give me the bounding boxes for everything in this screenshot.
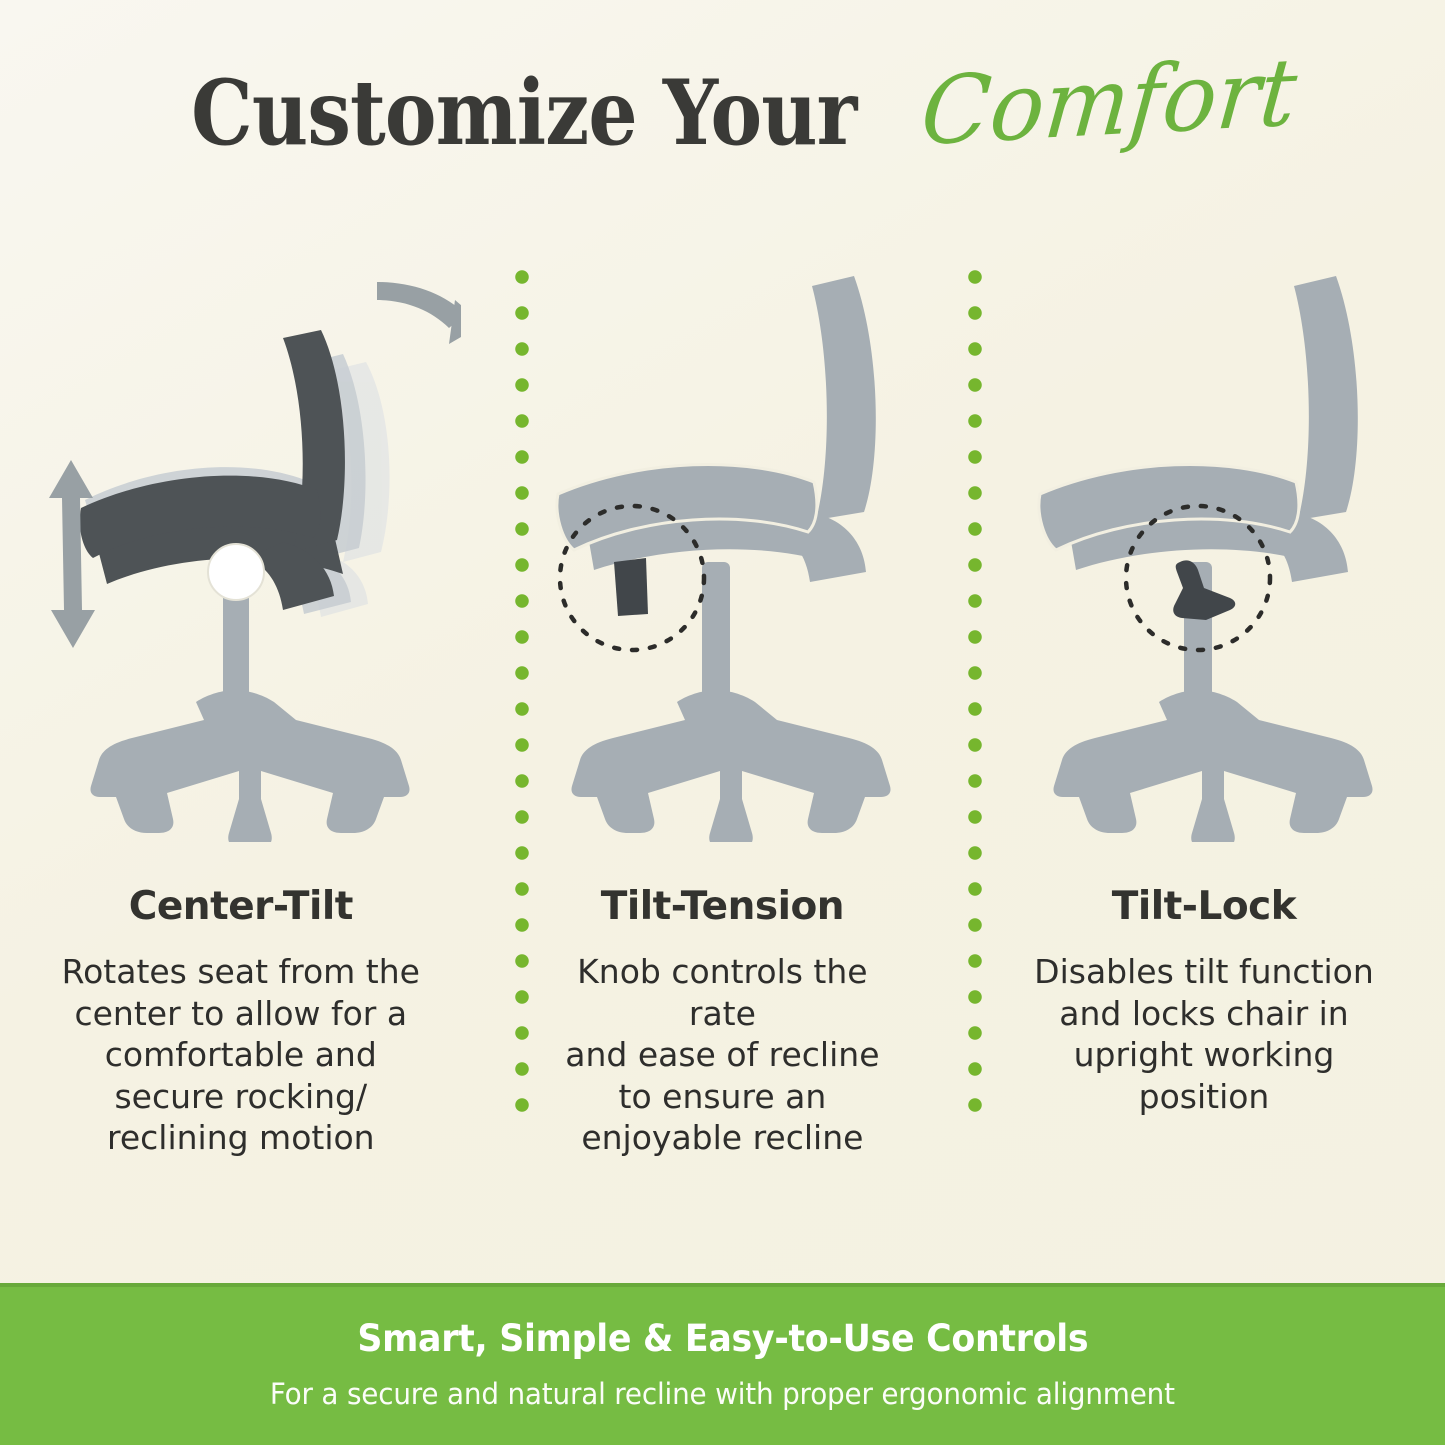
feature-description-tilt-tension: Knob controls the rate and ease of recli… [542,951,902,1159]
chair-base [572,592,891,842]
chair-backrest [1294,276,1358,520]
feature-column-tilt-lock: Tilt-Lock Disables tilt function and loc… [963,262,1445,1222]
footer-top-edge [0,1283,1445,1287]
page-title: Customize YourComfort [0,58,1445,167]
feature-description-center-tilt: Rotates seat from the center to allow fo… [61,951,421,1159]
tilt-lock-chair-diagram [984,262,1424,842]
chair-cylinder [702,562,730,714]
feature-title-tilt-tension: Tilt-Tension [601,884,844,929]
pivot-circle [208,544,264,600]
feature-columns: Center-Tilt Rotates seat from the center… [0,262,1445,1222]
tension-knob [614,558,648,616]
footer-subline: For a secure and natural recline with pr… [270,1377,1175,1411]
title-main-text: Customize Your [191,60,856,166]
feature-column-center-tilt: Center-Tilt Rotates seat from the center… [0,262,482,1222]
feature-title-center-tilt: Center-Tilt [129,884,353,929]
tilt-tension-chair-diagram [502,262,942,842]
title-script-text: Comfort [917,39,1301,167]
footer-headline: Smart, Simple & Easy-to-Use Controls [357,1317,1088,1360]
dotted-divider-1 [513,268,531,1128]
feature-description-tilt-lock: Disables tilt function and locks chair i… [1024,951,1384,1117]
feature-title-tilt-lock: Tilt-Lock [1112,884,1296,929]
infographic-page: Customize YourComfort [0,0,1445,1445]
curved-tilt-arrow [377,282,461,344]
chair-base [90,592,409,842]
center-tilt-chair-diagram [21,262,461,842]
vertical-double-arrow [49,460,95,648]
dotted-divider-2 [966,268,984,1128]
chair-backrest [812,276,876,520]
feature-column-tilt-tension: Tilt-Tension Knob controls the rate and … [482,262,964,1222]
footer-banner: Smart, Simple & Easy-to-Use Controls For… [0,1283,1445,1445]
chair-base [1053,592,1372,842]
